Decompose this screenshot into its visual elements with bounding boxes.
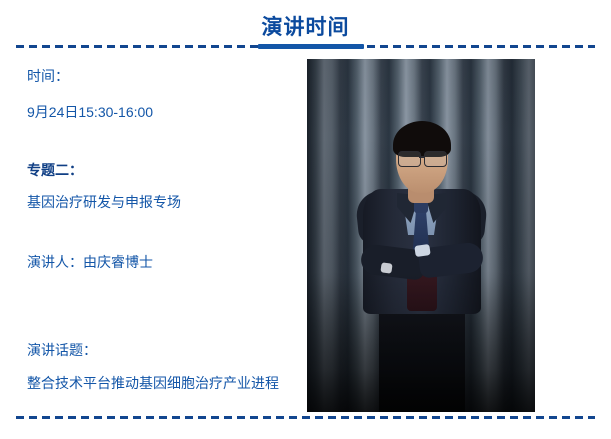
topic-value: 基因治疗研发与申报专场 — [27, 192, 181, 212]
subject-glasses-right-lens — [424, 151, 447, 167]
page-title: 演讲时间 — [0, 14, 611, 42]
time-value: 9月24日15:30-16:00 — [27, 102, 153, 122]
subject-glasses-left-lens — [398, 151, 421, 167]
divider-bottom — [16, 416, 595, 419]
subject-wristwatch — [380, 262, 392, 273]
speaker-info-card: 演讲时间 时间： 9月24日15:30-16:00 专题二： 基因治疗研发与申报… — [0, 0, 611, 439]
subject-shirt-cuff — [414, 244, 430, 257]
speaker-portrait-photo — [307, 59, 535, 412]
portrait-subject — [307, 59, 535, 412]
topic-label: 专题二： — [27, 160, 83, 180]
talk-topic-label: 演讲话题： — [27, 340, 97, 360]
speaker-name: 演讲人：由庆睿博士 — [27, 252, 153, 272]
title-accent-bar — [258, 44, 364, 49]
subject-glasses-bridge — [419, 156, 425, 158]
talk-topic-value: 整合技术平台推动基因细胞治疗产业进程 — [27, 373, 279, 393]
time-label: 时间： — [27, 66, 69, 86]
